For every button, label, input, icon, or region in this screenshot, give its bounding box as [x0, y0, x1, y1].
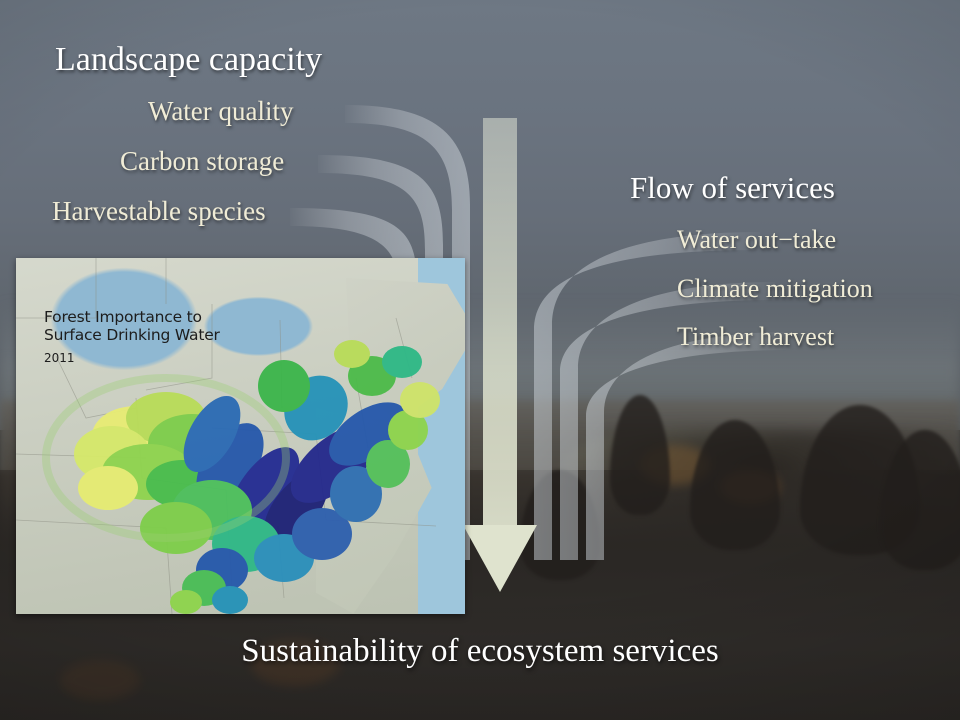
map-title: Forest Importance to Surface Drinking Wa… [44, 308, 220, 345]
arrow-shaft [483, 118, 517, 533]
map-figure: Forest Importance to Surface Drinking Wa… [16, 258, 465, 614]
main-down-arrow [463, 118, 537, 592]
right-item-timber-harvest: Timber harvest [677, 322, 834, 352]
right-item-water-out-take: Water out−take [677, 225, 836, 255]
left-item-carbon-storage: Carbon storage [120, 146, 284, 177]
right-item-climate-mitigation: Climate mitigation [677, 274, 873, 304]
right-group-heading: Flow of services [630, 170, 835, 206]
ribbon-timber-harvest [586, 332, 790, 560]
left-item-harvestable-species: Harvestable species [52, 196, 266, 227]
slide-canvas: Landscape capacity Water quality Carbon … [0, 0, 960, 720]
map-title-line1: Forest Importance to [44, 308, 220, 326]
arrow-head [463, 525, 537, 592]
map-year: 2011 [44, 351, 75, 365]
left-item-water-quality: Water quality [148, 96, 294, 127]
map-title-line2: Surface Drinking Water [44, 326, 220, 344]
left-group-heading: Landscape capacity [55, 41, 322, 79]
slide-bottom-title: Sustainability of ecosystem services [0, 633, 960, 670]
